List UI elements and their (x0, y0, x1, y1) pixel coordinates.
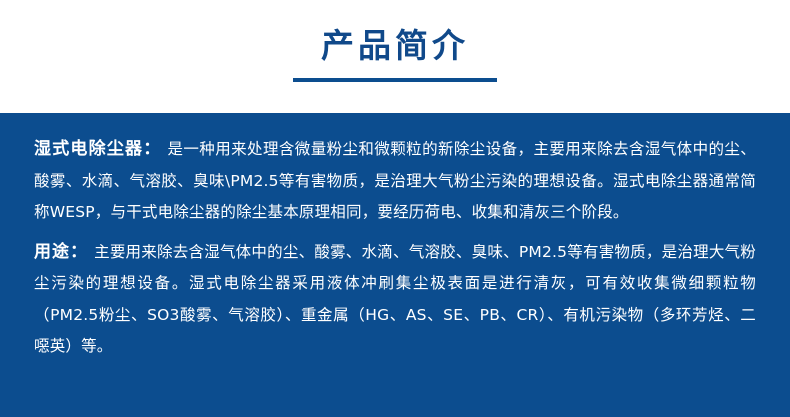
page-header: 产品简介 (0, 0, 790, 113)
description-panel: 湿式电除尘器：是一种用来处理含微量粉尘和微颗粒的新除尘设备，主要用来除去含湿气体… (0, 113, 790, 417)
paragraph-usage: 用途：主要用来除去含湿气体中的尘、酸雾、水滴、气溶胶、臭味、PM2.5等有害物质… (34, 237, 756, 363)
paragraph-lead-label-1: 用途： (34, 242, 88, 262)
paragraph-wet-electrostatic-precipitator: 湿式电除尘器：是一种用来处理含微量粉尘和微颗粒的新除尘设备，主要用来除去含湿气体… (34, 134, 756, 229)
paragraph-lead-label-0: 湿式电除尘器： (34, 139, 161, 159)
page-title: 产品简介 (321, 26, 469, 66)
paragraph-body-1: 主要用来除去含湿气体中的尘、酸雾、水滴、气溶胶、臭味、PM2.5等有害物质，是治… (34, 243, 756, 356)
product-intro-page: 产品简介 湿式电除尘器：是一种用来处理含微量粉尘和微颗粒的新除尘设备，主要用来除… (0, 0, 790, 417)
title-underline-rule (293, 78, 497, 82)
